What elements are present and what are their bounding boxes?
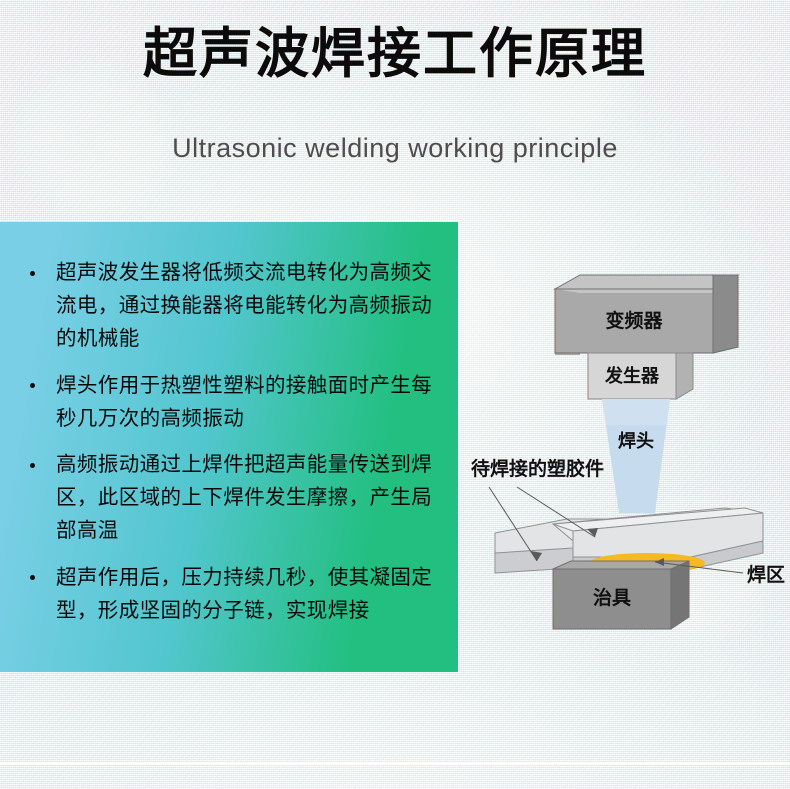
converter-block: 变频器 <box>555 275 738 355</box>
generator-block: 发生器 <box>588 353 693 399</box>
list-item: 高频振动通过上焊件把超声能量传送到焊区，此区域的上下焊件发生摩擦，产生局部高温 <box>16 448 438 548</box>
page-title: 超声波焊接工作原理 <box>0 22 790 84</box>
bullet-dot-icon <box>30 463 35 468</box>
poster-root: 超声波焊接工作原理 Ultrasonic welding working pri… <box>0 0 790 789</box>
page-subtitle: Ultrasonic welding working principle <box>0 133 790 164</box>
bullet-text: 高频振动通过上焊件把超声能量传送到焊区，此区域的上下焊件发生摩擦，产生局部高温 <box>56 453 432 542</box>
horn-label: 焊头 <box>618 431 654 452</box>
bullet-list: 超声波发生器将低频交流电转化为高频交流电，通过换能器将电能转化为高频振动的机械能… <box>16 256 438 627</box>
weld-zone-label: 焊区 <box>747 563 785 586</box>
plastic-parts-label: 待焊接的塑胶件 <box>471 457 604 480</box>
bullet-dot-icon <box>30 271 35 276</box>
converter-label: 变频器 <box>605 309 663 332</box>
fixture-block: 治具 <box>553 561 689 629</box>
list-item: 超声波发生器将低频交流电转化为高频交流电，通过换能器将电能转化为高频振动的机械能 <box>16 256 438 356</box>
horn-shape: 焊头 <box>602 399 670 513</box>
bullet-text: 超声作用后，压力持续几秒，使其凝固定型，形成坚固的分子链，实现焊接 <box>56 566 432 622</box>
bottom-divider <box>0 762 790 765</box>
bullet-text: 超声波发生器将低频交流电转化为高频交流电，通过换能器将电能转化为高频振动的机械能 <box>56 261 432 350</box>
bullet-dot-icon <box>30 575 35 580</box>
list-item: 焊头作用于热塑性塑料的接触面时产生每秒几万次的高频振动 <box>16 369 438 435</box>
generator-label: 发生器 <box>604 365 660 387</box>
bullet-text: 焊头作用于热塑性塑料的接触面时产生每秒几万次的高频振动 <box>56 374 432 430</box>
list-item: 超声作用后，压力持续几秒，使其凝固定型，形成坚固的分子链，实现焊接 <box>16 561 438 627</box>
ultrasonic-welding-diagram: 变频器 发生器 焊头 <box>455 265 790 640</box>
bullet-dot-icon <box>30 383 35 388</box>
fixture-label: 治具 <box>593 586 631 609</box>
description-panel: 超声波发生器将低频交流电转化为高频交流电，通过换能器将电能转化为高频振动的机械能… <box>0 222 458 672</box>
header: 超声波焊接工作原理 Ultrasonic welding working pri… <box>0 0 790 190</box>
